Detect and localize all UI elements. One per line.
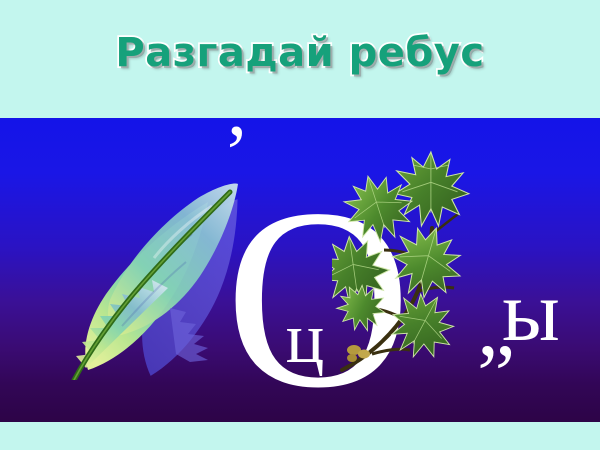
feather-icon [50, 140, 240, 380]
page-title: Разгадай ребус [0, 30, 600, 76]
rebus-content-area: ’ О ц [40, 118, 560, 422]
rebus-slide: Разгадай ребус [0, 0, 600, 450]
rebus-panel: ’ О ц [0, 118, 600, 422]
maple-branch-icon [332, 132, 482, 382]
letter-yery: ы [502, 268, 560, 354]
title-bar: Разгадай ребус [0, 0, 600, 118]
